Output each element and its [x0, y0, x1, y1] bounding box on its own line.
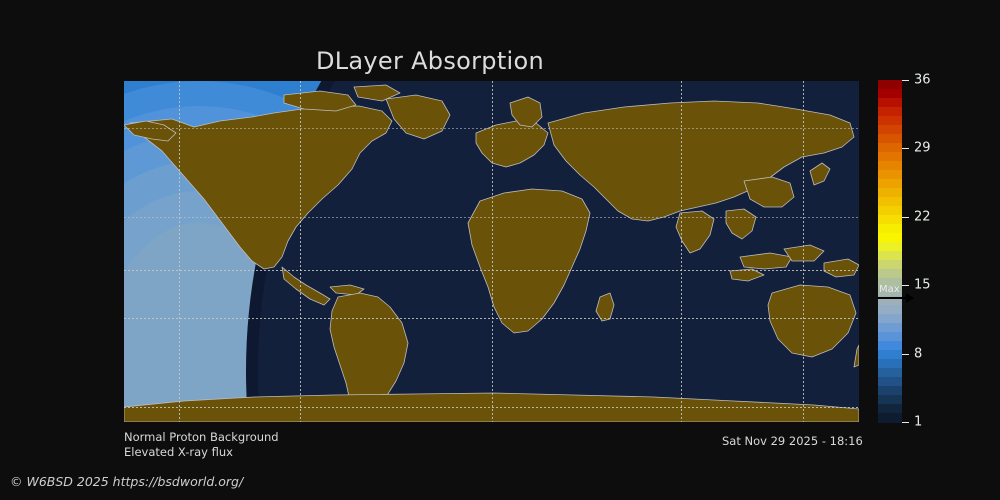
page-title: DLayer Absorption — [0, 48, 860, 74]
status-note-proton: Normal Proton Background — [124, 430, 279, 445]
copyright-notice: © W6BSD 2025 https://bsdworld.org/ — [10, 474, 243, 489]
world-map-plot[interactable] — [124, 81, 859, 422]
colorbar-tick-8 — [902, 354, 909, 355]
observation-timestamp: Sat Nov 29 2025 - 18:16 — [722, 434, 863, 448]
max-marker-arrow-shaft — [878, 297, 908, 299]
gridline-lat-30n — [124, 217, 859, 218]
gridline-lat-30s — [124, 318, 859, 319]
dlayer-absorption-figure: DLayer Absorption — [0, 0, 1000, 500]
max-marker-label: Max — [879, 284, 900, 295]
gridline-lon-120e — [803, 81, 804, 422]
colorbar-tick-36 — [902, 80, 909, 81]
map-canvas — [124, 81, 859, 422]
colorbar-tick-29 — [902, 148, 909, 149]
colorbar[interactable]: 3629221581 — [878, 80, 902, 422]
gridline-lat-60n — [124, 128, 859, 129]
colorbar-axis-label: Affected Frequency (MHz) — [916, 80, 1000, 422]
gridline-lon-60e — [681, 81, 682, 422]
status-note-xray: Elevated X-ray flux — [124, 445, 233, 460]
colorbar-tick-1 — [902, 422, 909, 423]
colorbar-band-37 — [878, 413, 902, 423]
colorbar-gradient — [878, 80, 902, 422]
gridline-lon-0 — [492, 81, 493, 422]
gridline-lat-60s — [124, 407, 859, 408]
gridline-lat-equator — [124, 270, 859, 271]
gridline-lon-120w — [179, 81, 180, 422]
colorbar-tick-22 — [902, 217, 909, 218]
max-marker-arrow-head — [906, 293, 914, 303]
gridline-lon-60w — [300, 81, 301, 422]
max-value-marker: Max — [878, 285, 928, 307]
